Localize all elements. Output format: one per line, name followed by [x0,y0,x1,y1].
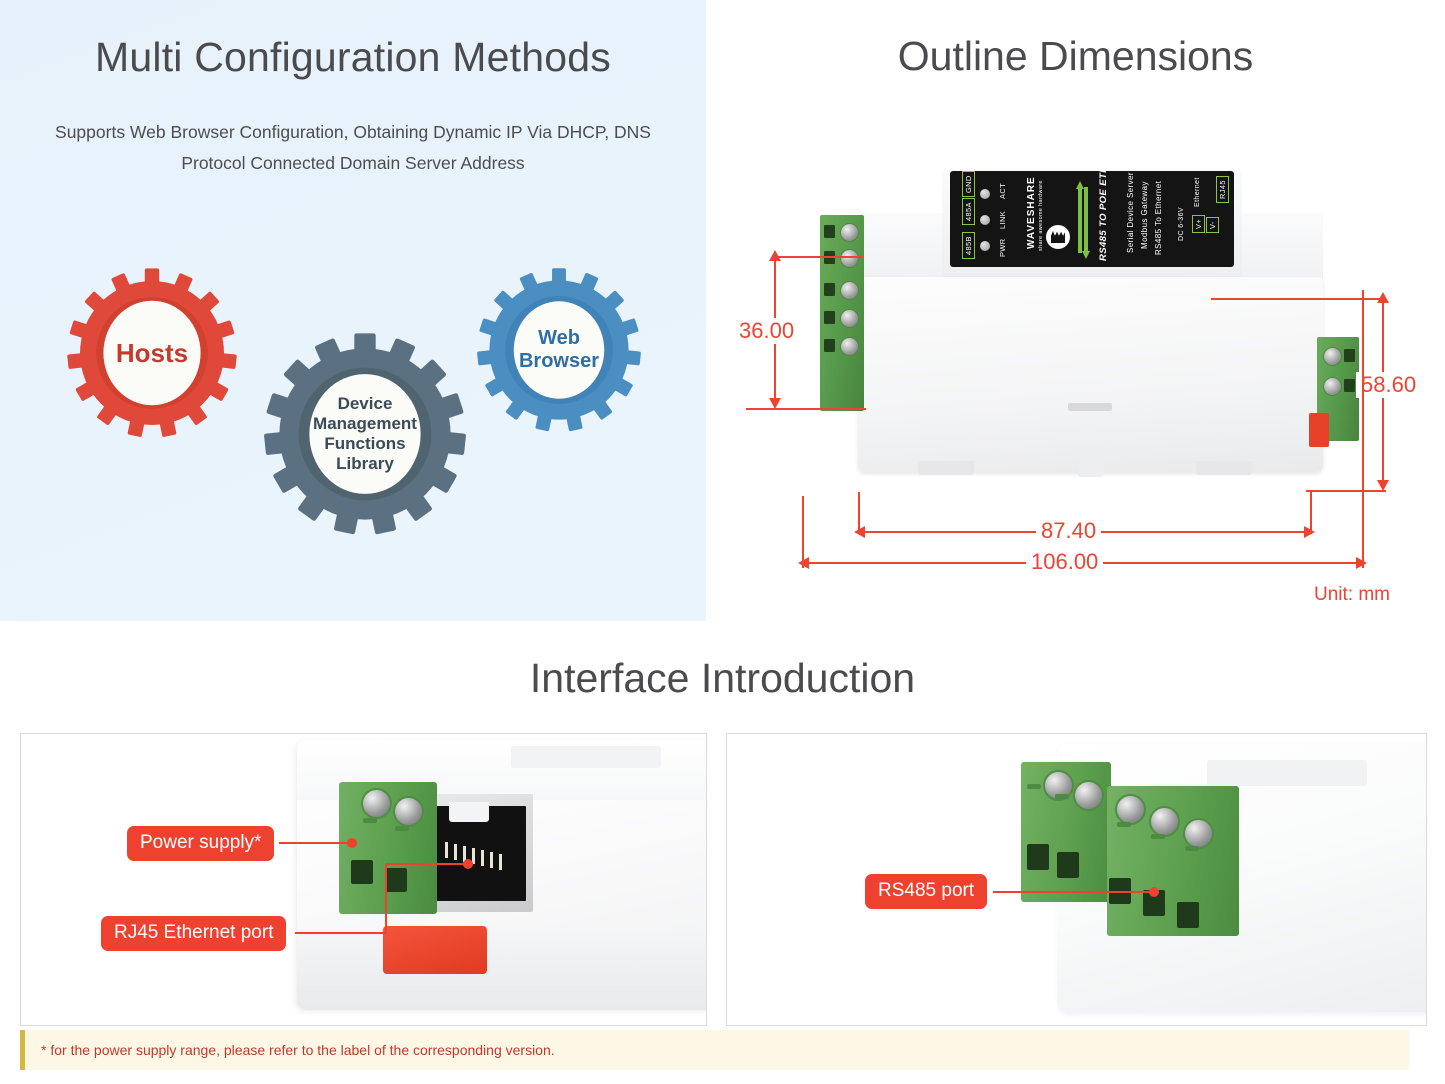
terminal-screw [1115,794,1146,825]
terminal-slit [395,826,409,831]
terminal-block-left [820,215,864,411]
device-lower-step-left [297,930,707,1010]
terminal-screw [840,281,859,300]
interface-photo-left: Power supply* RJ45 Ethernet port [20,733,707,1026]
config-panel-title: Multi Configuration Methods [0,34,706,81]
rj45-pin [445,842,448,858]
terminal-slit [1185,846,1199,851]
enclosure-wing-right [1233,213,1323,283]
terminal-screw [1073,780,1104,811]
label-desc-2: RS485 To Ethernet [1154,181,1163,255]
dim-58-value: 58.60 [1356,372,1421,398]
terminal-slit [1151,834,1165,839]
terminal-screw [361,788,392,819]
callout-rs485-dot [1149,887,1159,897]
label-ethernet: Ethernet [1194,177,1201,207]
callout-power-supply: Power supply* [127,826,274,861]
label-terminal-gnd: GND [962,171,975,197]
gear-web-browser: Web Browser [472,263,646,437]
terminal-hole [1344,349,1355,362]
dim-58-ext-top [1211,298,1386,300]
terminal-screw [1323,377,1342,396]
terminal-screw [1149,806,1180,837]
product-label: 485B 485A GND DEF PWR LINK ACT WAVESHARE… [950,171,1234,267]
label-terminal-485b: 485B [962,232,975,259]
config-panel-subtitle: Supports Web Browser Configuration, Obta… [22,117,684,179]
terminal-screw [840,337,859,356]
outline-dimensions-panel: Outline Dimensions 485B 485A GND DEF PWR [706,0,1445,621]
din-rail-release-clip [383,926,487,974]
device-ridge-right [1207,760,1367,786]
green-arrow-icon [1078,181,1089,259]
label-led-link: LINK [998,211,1007,229]
rj45-latch-slot [449,802,489,822]
callout-rj45-leader-v [385,864,387,934]
led-link [980,215,990,225]
label-desc-0: Serial Device Server [1126,172,1135,253]
multi-configuration-panel: Multi Configuration Methods Supports Web… [0,0,706,621]
rj45-pin [454,844,457,860]
terminal-slit [363,818,377,823]
interface-photo-right: RS485 port [726,733,1427,1026]
footnote-text: * for the power supply range, please ref… [25,1042,555,1058]
gear-hosts-icon [62,263,242,443]
rs485-terminal-block-2pin [1021,762,1111,902]
product-render: 485B 485A GND DEF PWR LINK ACT WAVESHARE… [796,155,1396,495]
terminal-screw [393,796,424,827]
terminal-hole [824,311,835,324]
terminal-screw [840,249,859,268]
label-led-act: ACT [998,183,1007,199]
callout-power-supply-leader [279,842,351,844]
dim-106-ext-left [802,496,804,568]
gear-device-management-icon [258,327,472,541]
terminal-hole [824,339,835,352]
label-rj45: RJ45 [1216,176,1229,203]
dim-36-value: 36.00 [734,318,799,344]
infographic-page: Multi Configuration Methods Supports Web… [0,0,1445,1084]
dim-87-ext-left [858,492,860,534]
enclosure-slot [1068,403,1112,411]
dim-36-ext-top [774,256,864,258]
terminal-hole [1027,844,1049,870]
dim-58-ext-bottom [1306,490,1386,492]
dim-87-value: 87.40 [1036,518,1101,544]
terminal-slit [1027,784,1041,789]
terminal-screw [840,223,859,242]
callout-rj45-leader-h2 [385,863,467,865]
led-act [980,189,990,199]
enclosure-foot-left [918,461,974,475]
dim-106-value: 106.00 [1026,549,1103,575]
device-ridge-left [511,746,661,768]
gear-web-browser-icon [472,263,646,437]
led-pwr [980,241,990,251]
callout-rj45-dot [463,859,473,869]
rj45-pin [481,850,484,866]
rj45-pin [499,854,502,870]
callout-rj45-leader-h [295,932,387,934]
label-led-pwr: PWR [998,239,1007,257]
label-brand: WAVESHARE [1026,176,1037,249]
callout-power-supply-dot [347,838,357,848]
label-model: RS485 TO POE ETH (B) [1098,171,1109,261]
terminal-hole [1177,902,1199,928]
label-desc-1: Modbus Gateway [1140,181,1149,249]
green-arrow-tip-up [1076,181,1084,189]
label-power-spec: DC 6-36V [1178,207,1185,241]
enclosure-main-body [858,277,1323,472]
enclosure-notch [1078,455,1104,477]
footnote-box: * for the power supply range, please ref… [20,1030,1409,1070]
unit-note: Unit: mm [1314,584,1390,606]
rj45-pin [490,852,493,868]
interface-panel-title: Interface Introduction [0,655,1445,702]
dim-106-ext-right [1362,290,1364,568]
power-terminal-block [339,782,437,914]
din-rail-clip [1309,413,1329,447]
callout-rs485-leader [993,891,1153,893]
terminal-hole [351,860,373,884]
gear-hosts: Hosts [62,263,242,443]
enclosure-wing-left [858,213,950,283]
green-arrow-tip-down [1082,251,1090,259]
terminal-screw [840,309,859,328]
terminal-hole [824,225,835,238]
terminal-slit [1055,794,1069,799]
dim-87-ext-right [1310,492,1312,534]
terminal-screw [1323,347,1342,366]
rs485-terminal-block-3pin [1107,786,1239,936]
callout-rj45-ethernet-port: RJ45 Ethernet port [101,916,286,951]
label-terminal-vplus: V+ [1192,215,1205,233]
terminal-hole [385,868,407,892]
dimensions-panel-title: Outline Dimensions [706,33,1445,80]
gear-device-management: Device Management Functions Library [258,327,472,541]
label-brand-tagline: share awesome hardware [1038,180,1044,251]
label-terminal-485a: 485A [962,198,975,225]
waveshare-logo-icon [1046,225,1070,249]
terminal-hole [824,283,835,296]
label-terminal-vminus: V- [1206,217,1219,233]
rj45-contact-pins [445,842,509,870]
terminal-slit [1117,822,1131,827]
dim-36-ext-bottom [746,408,866,410]
callout-rs485-port: RS485 port [865,874,987,909]
terminal-hole [1344,379,1355,392]
terminal-hole [1057,852,1079,878]
terminal-screw [1183,818,1214,849]
enclosure-foot-right [1196,461,1252,475]
